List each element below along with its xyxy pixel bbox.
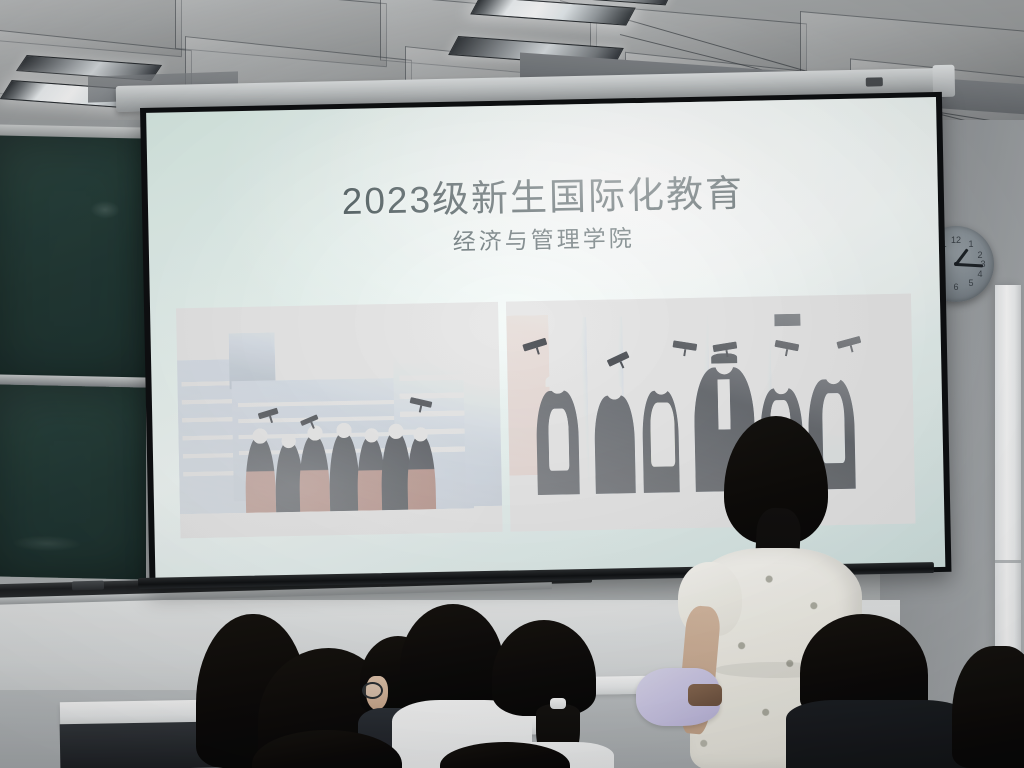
presenter-hand bbox=[688, 684, 722, 706]
student-right-dark bbox=[800, 614, 950, 768]
student-foreground-left bbox=[252, 730, 402, 768]
clock-number: 5 bbox=[965, 278, 977, 289]
classroom-scene: 12 1 2 3 4 5 6 7 8 9 10 11 2023级新生国际化教育 … bbox=[0, 0, 1024, 768]
glasses-icon bbox=[362, 682, 383, 699]
clock-minute-hand bbox=[956, 263, 983, 267]
chalkboard-upper-left bbox=[0, 134, 146, 383]
hair-clip bbox=[550, 698, 566, 709]
graduation-photo-domestic bbox=[176, 302, 503, 538]
clock-center-pin bbox=[954, 262, 958, 266]
student-far-right bbox=[952, 646, 1024, 768]
chalkboard-lower-left bbox=[0, 384, 146, 579]
screen-housing-badge bbox=[866, 77, 883, 86]
clock-number: 6 bbox=[950, 282, 962, 293]
clock-number: 12 bbox=[950, 235, 962, 246]
chalk-eraser bbox=[72, 581, 104, 591]
student-foreground-center bbox=[440, 742, 570, 768]
chalkboard-top-frame bbox=[0, 124, 144, 138]
wall-strip-seam bbox=[995, 560, 1021, 563]
